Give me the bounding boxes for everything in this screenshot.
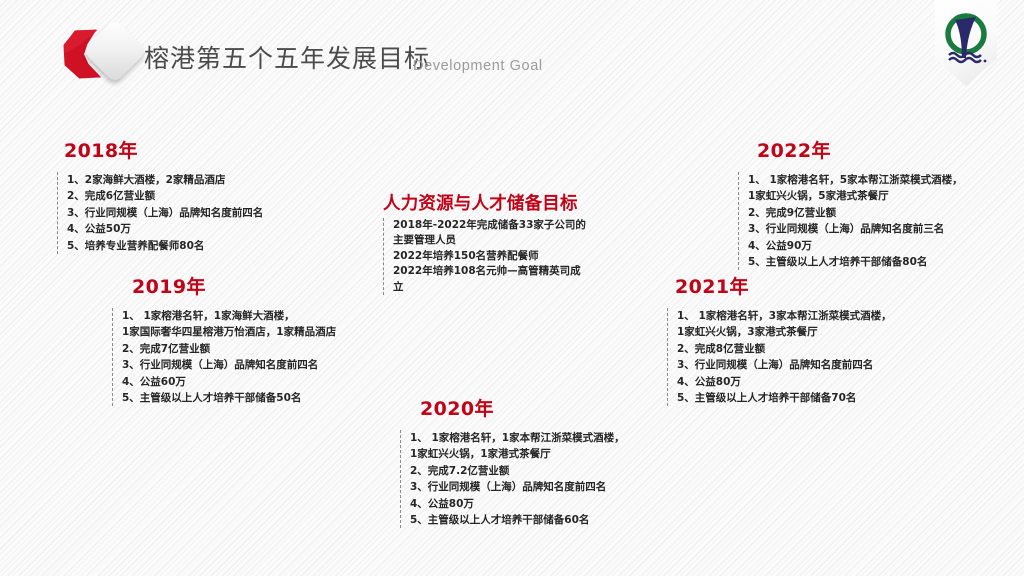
goal-block-2020: 2020年 1、 1家榕港名轩，1家本帮江浙菜模式酒楼， 1家虹兴火锅，1家港式… <box>400 394 720 528</box>
slide-header: 榕港第五个五年发展目标 Development Goal <box>0 0 1024 100</box>
list-item: 2、完成7亿营业额 <box>122 341 432 357</box>
goal-block-2018: 2018年 1、2家海鲜大酒楼，2家精品酒店 2、完成6亿营业额 3、行业同规模… <box>57 136 357 254</box>
list-item: 1、2家海鲜大酒楼，2家精品酒店 <box>67 172 357 188</box>
list-item: 3、行业同规模（上海）品牌知名度前四名 <box>122 357 432 373</box>
hr-goal-line: 2022年培养108名元帅—高管精英司成 立 <box>393 264 633 295</box>
hr-goal-heading: 人力资源与人才储备目标 <box>383 190 633 215</box>
year-heading-2018: 2018年 <box>64 136 357 163</box>
list-item: 3、行业同规模（上海）品牌知名度前三名 <box>748 221 1024 237</box>
list-item: 1、 1家榕港名轩，1家海鲜大酒楼， 1家国际奢华四星榕港万怡酒店，1家精品酒店 <box>122 308 432 341</box>
list-item: 5、培养专业营养配餐师80名 <box>67 238 357 254</box>
goal-block-2021: 2021年 1、 1家榕港名轩，3家本帮江浙菜模式酒楼， 1家虹兴火锅，3家港式… <box>667 272 977 406</box>
hr-goal-line: 2018年-2022年完成储备33家子公司的 主要管理人员 <box>393 218 633 249</box>
page-title: 榕港第五个五年发展目标 <box>144 39 430 75</box>
list-item: 5、主管级以上人才培养干部储备60名 <box>410 512 720 528</box>
list-item: 2、完成6亿营业额 <box>67 188 357 204</box>
goal-list-body-2018: 1、2家海鲜大酒楼，2家精品酒店 2、完成6亿营业额 3、行业同规模（上海）品牌… <box>57 172 357 254</box>
company-shield-badge <box>935 0 997 86</box>
list-item: 2、完成9亿营业额 <box>748 205 1024 221</box>
list-item: 5、主管级以上人才培养干部储备70名 <box>677 390 977 406</box>
list-item: 1、 1家榕港名轩，1家本帮江浙菜模式酒楼， 1家虹兴火锅，1家港式茶餐厅 <box>410 430 720 463</box>
year-heading-2021: 2021年 <box>675 272 977 299</box>
list-item: 4、公益80万 <box>677 374 977 390</box>
list-item: 3、行业同规模（上海）品牌知名度前四名 <box>410 479 720 495</box>
hr-goal-body: 2018年-2022年完成储备33家子公司的 主要管理人员 2022年培养150… <box>383 218 633 295</box>
list-item: 4、公益50万 <box>67 221 357 237</box>
brand-emblem-icon <box>935 0 997 86</box>
goal-list-body-2022: 1、 1家榕港名轩，5家本帮江浙菜模式酒楼， 1家虹兴火锅，5家港式茶餐厅 2、… <box>738 172 1024 270</box>
goal-block-2022: 2022年 1、 1家榕港名轩，5家本帮江浙菜模式酒楼， 1家虹兴火锅，5家港式… <box>738 136 1024 270</box>
list-item: 4、公益90万 <box>748 238 1024 254</box>
list-item: 4、公益80万 <box>410 496 720 512</box>
list-item: 3、行业同规模（上海）品牌知名度前四名 <box>67 205 357 221</box>
list-item: 1、 1家榕港名轩，3家本帮江浙菜模式酒楼， 1家虹兴火锅，3家港式茶餐厅 <box>677 308 977 341</box>
goal-list-body-2021: 1、 1家榕港名轩，3家本帮江浙菜模式酒楼， 1家虹兴火锅，3家港式茶餐厅 2、… <box>667 308 977 406</box>
hr-goal-block: 人力资源与人才储备目标 2018年-2022年完成储备33家子公司的 主要管理人… <box>383 190 633 295</box>
year-heading-2022: 2022年 <box>757 136 1024 163</box>
list-item: 4、公益60万 <box>122 374 432 390</box>
list-item: 2、完成7.2亿营业额 <box>410 463 720 479</box>
page-subtitle: Development Goal <box>413 58 543 74</box>
goal-list-body-2019: 1、 1家榕港名轩，1家海鲜大酒楼， 1家国际奢华四星榕港万怡酒店，1家精品酒店… <box>112 308 432 406</box>
list-item: 2、完成8亿营业额 <box>677 341 977 357</box>
slide-canvas: 榕港第五个五年发展目标 Development Goal 2018年 1、2家海… <box>0 0 1024 576</box>
list-item: 5、主管级以上人才培养干部储备80名 <box>748 254 1024 270</box>
goal-list-body-2020: 1、 1家榕港名轩，1家本帮江浙菜模式酒楼， 1家虹兴火锅，1家港式茶餐厅 2、… <box>400 430 720 528</box>
list-item: 3、行业同规模（上海）品牌知名度前四名 <box>677 357 977 373</box>
hr-goal-line: 2022年培养150名营养配餐师 <box>393 249 633 264</box>
list-item: 1、 1家榕港名轩，5家本帮江浙菜模式酒楼， 1家虹兴火锅，5家港式茶餐厅 <box>748 172 1024 205</box>
list-item: 5、主管级以上人才培养干部储备50名 <box>122 390 432 406</box>
